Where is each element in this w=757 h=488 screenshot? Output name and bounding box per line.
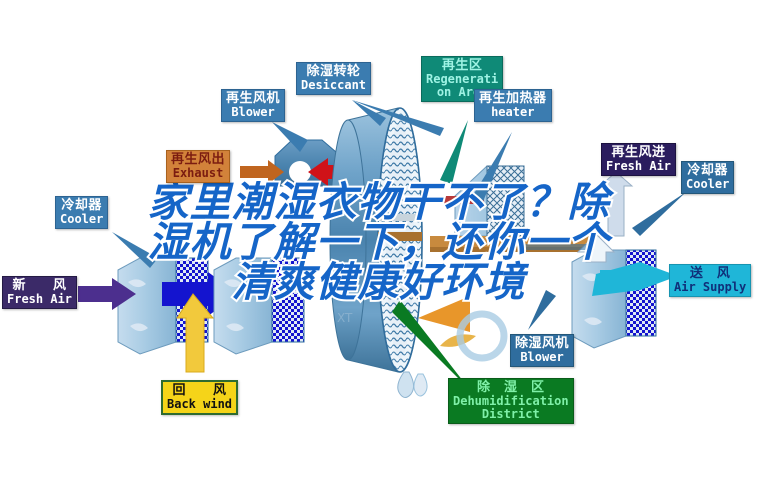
label-regen-blower-en: Blower [226, 106, 280, 119]
promo-headline: 家里潮湿衣物干不了？除 湿机了解一下，还你一个 清爽健康好环境 [0, 182, 757, 302]
label-regen-fresh-en: Fresh Air [606, 160, 671, 173]
headline-line-3: 清爽健康好环境 [0, 262, 757, 302]
label-desiccant-rotor: 除湿转轮 Desiccant [296, 62, 371, 95]
label-regen-fresh-cn: 再生风进 [606, 146, 671, 160]
label-cooler-right: 冷却器 Cooler [681, 161, 734, 194]
label-dehum-blower-en: Blower [515, 351, 569, 364]
label-dehumidification-blower: 除湿风机 Blower [510, 334, 574, 367]
label-back-wind-en: Back wind [167, 398, 232, 411]
label-regen-blower-cn: 再生风机 [226, 92, 280, 106]
label-desiccant-cn: 除湿转轮 [301, 65, 366, 79]
label-regen-heater-en: heater [479, 106, 547, 119]
dehumidifier-schematic-image: XT [0, 0, 757, 488]
label-regeneration-heater: 再生加热器 heater [474, 89, 552, 122]
label-cooler-right-en: Cooler [686, 178, 729, 191]
headline-line-2: 湿机了解一下，还你一个 [0, 222, 757, 262]
label-exhaust-cn: 再生风出 [171, 153, 225, 167]
label-cooler-left-en: Cooler [60, 213, 103, 226]
label-exhaust-en: Exhaust [171, 167, 225, 180]
label-regeneration-exhaust: 再生风出 Exhaust [166, 150, 230, 183]
label-regeneration-blower: 再生风机 Blower [221, 89, 285, 122]
label-regen-area-cn: 再生区 [426, 59, 498, 73]
label-regeneration-fresh-air: 再生风进 Fresh Air [601, 143, 676, 176]
label-fresh-air-cn: 新 风 [7, 279, 72, 293]
label-dehum-district-en3: District [453, 408, 569, 421]
label-fresh-air: 新 风 Fresh Air [2, 276, 77, 309]
label-desiccant-en: Desiccant [301, 79, 366, 92]
label-cooler-left: 冷却器 Cooler [55, 196, 108, 229]
label-back-wind: 回 风 Back wind [161, 380, 238, 415]
label-regen-heater-cn: 再生加热器 [479, 92, 547, 106]
label-fresh-air-en: Fresh Air [7, 293, 72, 306]
headline-line-1: 家里潮湿衣物干不了？除 [0, 182, 757, 222]
svg-text:XT: XT [337, 311, 353, 325]
label-air-supply-cn: 送 风 [674, 267, 746, 281]
label-dehumidification-district: 除 湿 区 Dehumidification District [448, 378, 574, 424]
label-dehum-district-cn: 除 湿 区 [453, 381, 569, 395]
label-air-supply-en: Air Supply [674, 281, 746, 294]
label-cooler-right-cn: 冷却器 [686, 164, 729, 178]
condensate-drop [398, 372, 427, 398]
label-back-wind-cn: 回 风 [167, 384, 232, 398]
label-air-supply: 送 风 Air Supply [669, 264, 751, 297]
label-dehum-blower-cn: 除湿风机 [515, 337, 569, 351]
label-cooler-left-cn: 冷却器 [60, 199, 103, 213]
